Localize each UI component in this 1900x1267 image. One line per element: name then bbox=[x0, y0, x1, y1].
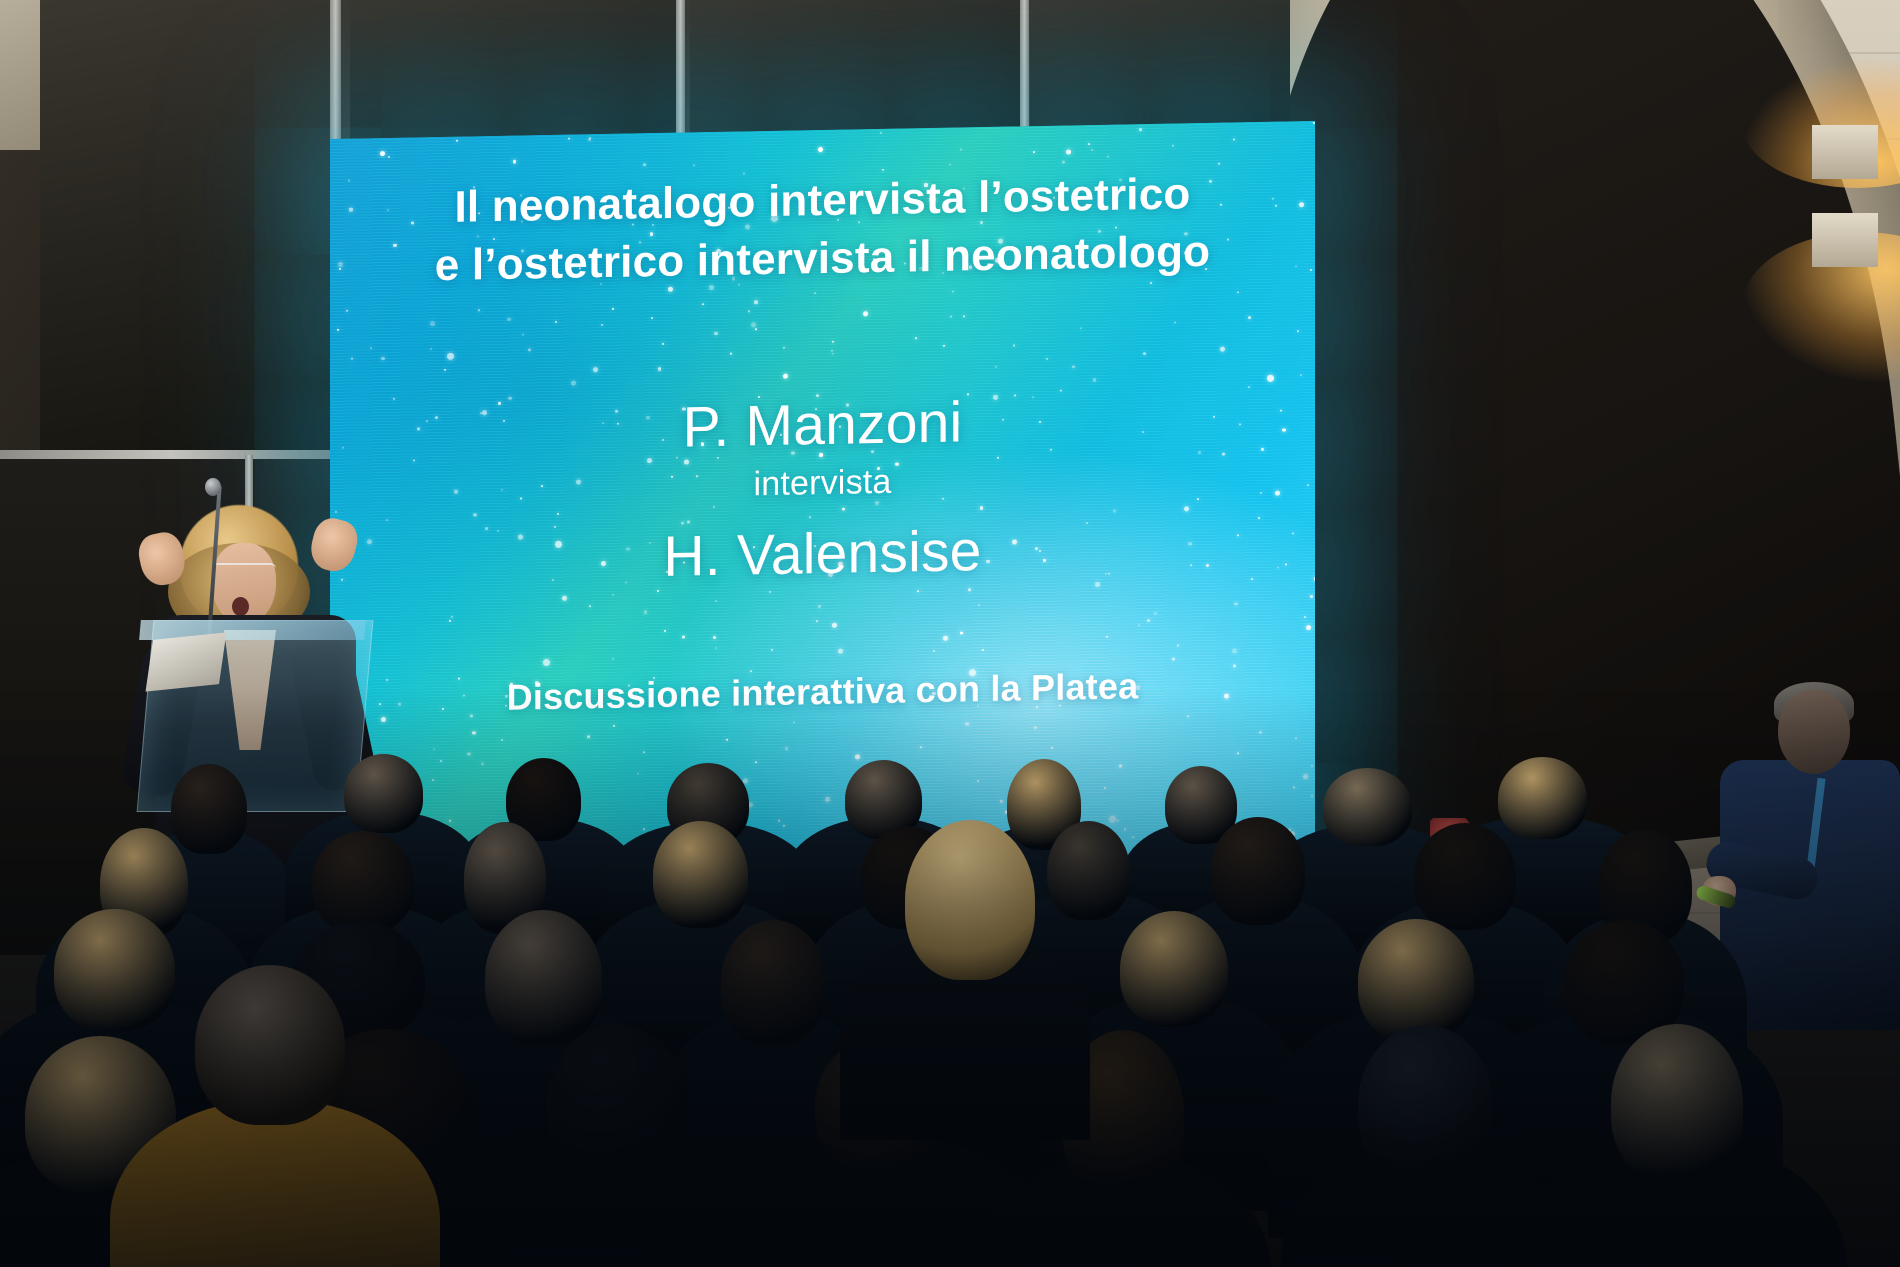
audience-member-head bbox=[344, 754, 424, 832]
slide-connector: intervista bbox=[753, 463, 891, 505]
audience-member-head bbox=[1047, 821, 1130, 920]
window-mullion bbox=[0, 450, 345, 459]
lectern-notes bbox=[146, 632, 227, 691]
slide-title: Il neonatalogo intervista l’ostetrico e … bbox=[435, 165, 1210, 295]
window-panel bbox=[1030, 0, 1290, 140]
audience-member-head bbox=[1611, 1024, 1744, 1183]
presenter-mouth bbox=[232, 597, 249, 616]
slide-speaker-interviewee: H. Valensise bbox=[663, 518, 981, 590]
audience-member-head bbox=[1358, 1025, 1493, 1185]
window-mullion bbox=[676, 0, 685, 150]
audience-member-head bbox=[1498, 757, 1587, 839]
audience-member-head bbox=[546, 1024, 687, 1180]
audience-member-head bbox=[653, 821, 748, 928]
conference-photo-scene: Il neonatalogo intervista l’ostetrico e … bbox=[0, 0, 1900, 1267]
audience-member-head bbox=[721, 920, 826, 1045]
audience-member-head bbox=[905, 820, 1035, 980]
wall-sconce-light bbox=[1812, 213, 1878, 267]
audience-member-head bbox=[1323, 768, 1412, 846]
audience-member-head bbox=[171, 764, 247, 854]
microphone-icon bbox=[205, 478, 221, 496]
window-mullion bbox=[1020, 0, 1029, 145]
window-panel bbox=[40, 0, 340, 455]
audience-member-head bbox=[1211, 817, 1305, 924]
audience-member-head bbox=[54, 909, 176, 1031]
glasses-icon bbox=[212, 563, 276, 580]
audience-member-head bbox=[1120, 911, 1228, 1028]
audience-member-head bbox=[195, 965, 345, 1125]
wall-sconce-light bbox=[1812, 125, 1878, 179]
audience-member-head bbox=[1358, 919, 1474, 1042]
audience-member-head bbox=[312, 831, 415, 933]
presenter-hand-right bbox=[306, 514, 361, 575]
audience-member-head bbox=[485, 910, 601, 1045]
slide-speaker-interviewer: P. Manzoni bbox=[683, 390, 963, 461]
audience-silhouettes bbox=[0, 700, 1900, 1267]
audience-member-head bbox=[1414, 823, 1516, 930]
